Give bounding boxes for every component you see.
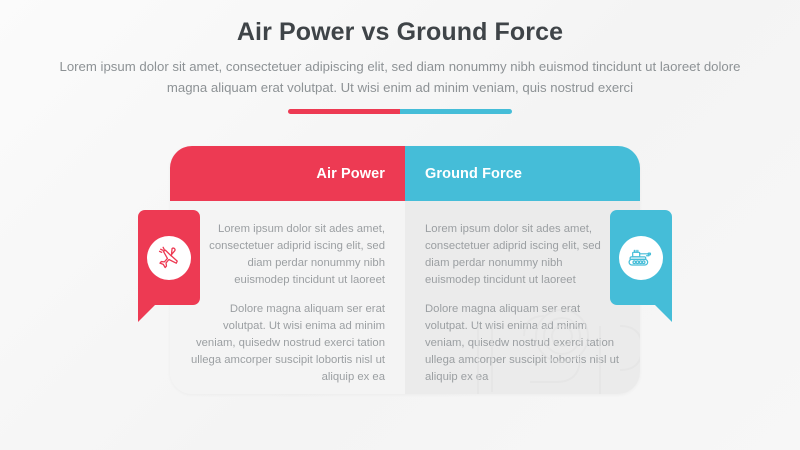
badge-air-power[interactable] [138,210,200,320]
badge-ground-force-tail [655,305,672,322]
column-paragraph: Lorem ipsum dolor sit ades amet, consect… [425,221,620,289]
comparison-card-inner: Air Power Ground Force Lorem ipsum dolor… [170,146,640,394]
column-body-air-power: Lorem ipsum dolor sit ades amet, consect… [170,201,405,394]
column-paragraph: Lorem ipsum dolor sit ades amet, consect… [190,221,385,289]
column-header-ground-force-label: Ground Force [425,166,522,182]
accent-divider-cyan [400,109,512,114]
column-header-ground-force[interactable]: Ground Force [405,146,640,201]
page-header: Air Power vs Ground Force Lorem ipsum do… [0,0,800,114]
page-subtitle: Lorem ipsum dolor sit amet, consectetuer… [50,56,750,99]
badge-air-power-tail [138,305,155,322]
column-header-air-power-label: Air Power [316,166,385,182]
page-title: Air Power vs Ground Force [0,18,800,47]
column-header-air-power[interactable]: Air Power [170,146,405,201]
comparison-body-row: Lorem ipsum dolor sit ades amet, consect… [170,201,640,394]
badge-ground-force-icon-circle [619,236,663,280]
badge-air-power-body [138,210,200,305]
column-body-ground-force: Lorem ipsum dolor sit ades amet, consect… [405,201,640,394]
accent-divider-red [288,109,400,114]
badge-ground-force-body [610,210,672,305]
column-paragraph: Dolore magna aliquam ser erat volutpat. … [190,301,385,386]
comparison-card: Air Power Ground Force Lorem ipsum dolor… [170,146,640,394]
accent-divider [288,109,512,114]
badge-air-power-icon-circle [147,236,191,280]
tank-icon [627,244,655,272]
column-paragraph: Dolore magna aliquam ser erat volutpat. … [425,301,620,386]
comparison-header-row: Air Power Ground Force [170,146,640,201]
airplane-icon [155,244,183,272]
badge-ground-force[interactable] [610,210,672,320]
